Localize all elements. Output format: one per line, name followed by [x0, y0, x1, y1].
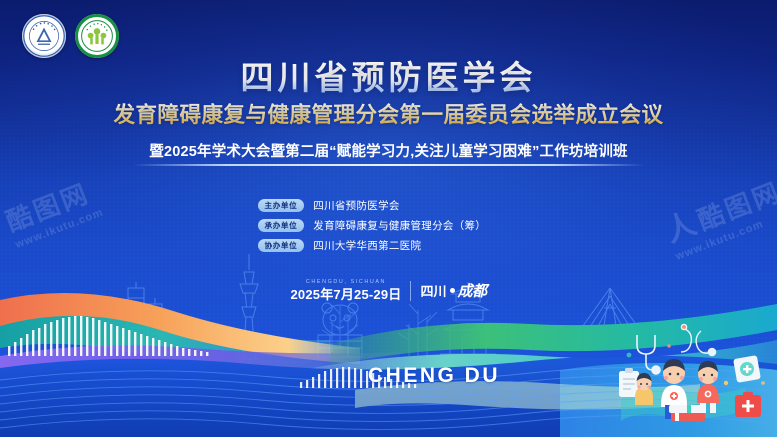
children-health-illustration [613, 321, 773, 427]
province-label: 四川 [420, 281, 446, 300]
organizer-badge: 承办单位 [258, 219, 305, 232]
poster-title-line3: 暨2025年学术大会暨第二届“赋能学习力,关注儿童学习困难”工作坊培训班 [139, 138, 637, 166]
poster-title-line2: 发育障碍康复与健康管理分会第一届委员会选举成立会议 [0, 103, 777, 129]
logo-group [22, 14, 119, 58]
location-english: CHENGDU, SICHUAN [306, 280, 386, 285]
organizer-value: 四川省预防医学会 [313, 198, 399, 213]
city-name-english: CHENG DU [368, 364, 500, 388]
city-label: 四川 成都 [420, 280, 486, 301]
separator-dot-icon [450, 288, 455, 293]
conference-date: 2025年7月25-29日 [290, 288, 401, 301]
organizer-value: 四川大学华西第二医院 [313, 238, 421, 253]
title-block: 四川省预防医学会 发育障碍康复与健康管理分会第一届委员会选举成立会议 暨2025… [0, 60, 777, 166]
organizer-list: 主办单位 四川省预防医学会 承办单位 发育障碍康复与健康管理分会（筹） 协办单位… [0, 198, 777, 253]
organizer-badge: 主办单位 [258, 199, 305, 212]
divider [410, 281, 411, 301]
date-location-bar: CHENGDU, SICHUAN 2025年7月25-29日 四川 成都 [0, 280, 777, 301]
child-health-green-emblem-icon [75, 14, 119, 58]
organizer-row: 承办单位 发育障碍康复与健康管理分会（筹） [258, 218, 520, 233]
sichuan-preventive-medicine-association-emblem-icon [22, 14, 66, 58]
organizer-badge: 协办单位 [258, 239, 305, 252]
poster-title-line1: 四川省预防医学会 [0, 60, 777, 97]
organizer-row: 协办单位 四川大学华西第二医院 [258, 238, 520, 253]
organizer-row: 主办单位 四川省预防医学会 [258, 198, 520, 213]
organizer-value: 发育障碍康复与健康管理分会（筹） [313, 218, 486, 233]
conference-poster: 四川省预防医学会 发育障碍康复与健康管理分会第一届委员会选举成立会议 暨2025… [0, 0, 777, 437]
city-name-calligraphy: 成都 [458, 280, 487, 301]
